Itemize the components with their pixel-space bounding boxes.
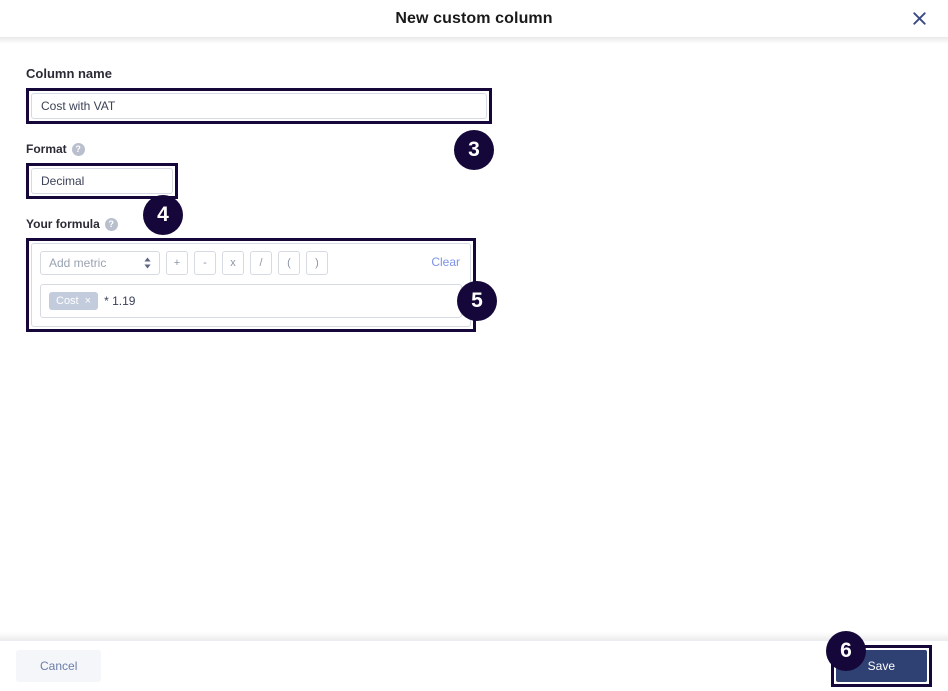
format-label-text: Format [26, 142, 67, 156]
operator-close-paren-button[interactable]: ) [306, 251, 328, 275]
format-highlight [26, 163, 178, 199]
formula-builder: Add metric + - x / ( ) Clea [31, 243, 471, 327]
chevron-updown-icon [143, 257, 152, 270]
help-icon[interactable]: ? [105, 218, 118, 231]
formula-expression-text: * 1.19 [104, 294, 135, 308]
cancel-button[interactable]: Cancel [16, 650, 101, 682]
add-metric-select[interactable]: Add metric [40, 251, 160, 275]
column-name-label: Column name [26, 66, 922, 81]
modal-header: New custom column [0, 0, 948, 37]
clear-link[interactable]: Clear [431, 255, 460, 269]
column-name-input[interactable] [31, 93, 487, 119]
operator-plus-button[interactable]: + [166, 251, 188, 275]
header-shadow [0, 37, 948, 44]
step-badge-6: 6 [826, 631, 866, 671]
close-button[interactable] [908, 8, 930, 30]
metric-chip-cost[interactable]: Cost × [49, 292, 98, 310]
formula-expression-input[interactable]: Cost × * 1.19 [40, 284, 462, 318]
column-name-field-group: Column name [26, 66, 922, 124]
help-icon[interactable]: ? [72, 143, 85, 156]
chip-remove-icon[interactable]: × [85, 296, 91, 307]
operator-multiply-button[interactable]: x [222, 251, 244, 275]
operator-open-paren-button[interactable]: ( [278, 251, 300, 275]
add-metric-placeholder: Add metric [49, 256, 106, 270]
operator-minus-button[interactable]: - [194, 251, 216, 275]
formula-highlight: Add metric + - x / ( ) Clea [26, 238, 476, 332]
footer-shadow [0, 632, 948, 640]
step-badge-3: 3 [454, 130, 494, 170]
formula-toolbar: Add metric + - x / ( ) Clea [40, 251, 462, 275]
close-icon [913, 12, 926, 25]
modal-body: Column name Format ? Your formula ? Add … [0, 44, 948, 644]
step-badge-4: 4 [143, 195, 183, 235]
format-select[interactable] [31, 168, 173, 194]
modal-footer: Cancel Save [0, 640, 948, 691]
column-name-highlight [26, 88, 492, 124]
metric-chip-label: Cost [56, 295, 79, 307]
page-title: New custom column [395, 10, 552, 28]
operator-divide-button[interactable]: / [250, 251, 272, 275]
formula-label-text: Your formula [26, 217, 100, 231]
step-badge-5: 5 [457, 281, 497, 321]
